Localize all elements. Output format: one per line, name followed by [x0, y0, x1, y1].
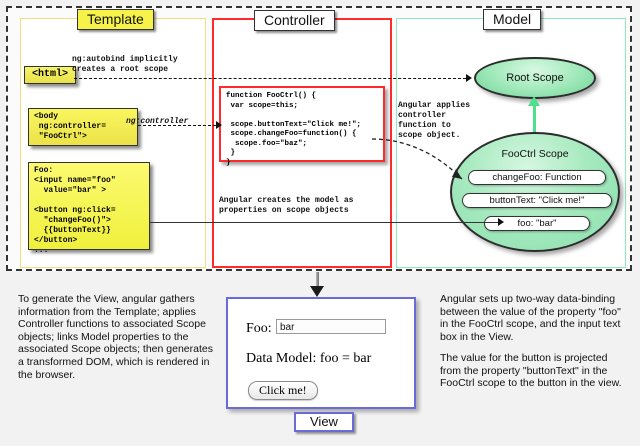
description-right-buttontext: The value for the button is projected fr… — [440, 352, 630, 390]
scope-property-buttontext: buttonText: "Click me!" — [462, 193, 612, 208]
annotation-angular-creates-model: Angular creates the model as properties … — [219, 196, 353, 216]
connector-autobind-arrowhead — [466, 74, 472, 82]
view-panel: Foo: bar Data Model: foo = bar Click me! — [226, 297, 416, 409]
panel-title-template: Template — [77, 9, 154, 30]
template-html-tag-box: <html> — [24, 66, 76, 84]
connector-creates-model-line — [150, 222, 498, 223]
view-panel-title: View — [294, 412, 354, 432]
scope-link-arrow-head — [528, 96, 540, 106]
panel-title-model: Model — [483, 9, 541, 30]
template-foo-markup-box: Foo: <input name="foo" value="bar" > <bu… — [28, 162, 150, 250]
fooctrl-scope-ellipse: FooCtrl Scope changeFoo: Function button… — [450, 132, 620, 252]
view-foo-label: Foo: — [246, 321, 272, 337]
description-left: To generate the View, angular gathers in… — [18, 293, 214, 381]
view-data-model-text: Data Model: foo = bar — [246, 351, 371, 367]
description-right-databinding: Angular sets up two-way data-binding bet… — [440, 293, 630, 343]
view-click-me-button[interactable]: Click me! — [248, 381, 318, 400]
annotation-ng-autobind: ng:autobind implicitly creates a root sc… — [72, 55, 178, 75]
connector-ngcontroller-line — [138, 125, 216, 126]
connector-ngcontroller-arrowhead — [216, 121, 222, 129]
root-scope-label: Root Scope — [506, 72, 563, 84]
panel-title-controller: Controller — [254, 10, 335, 31]
fooctrl-scope-label: FooCtrl Scope — [452, 148, 618, 160]
view-connector-arrowhead — [310, 286, 324, 297]
template-body-tag-box: <body ng:controller= "FooCtrl"> — [28, 108, 138, 146]
scope-link-arrow-stem — [533, 104, 536, 134]
view-foo-input[interactable]: bar — [276, 319, 386, 334]
connector-creates-model-arrowhead — [498, 218, 504, 226]
connector-applies-curve — [370, 135, 470, 185]
controller-code-box: function FooCtrl() { var scope=this; sco… — [219, 86, 385, 162]
connector-autobind-line — [74, 78, 466, 79]
scope-property-changefoo: changeFoo: Function — [468, 170, 606, 185]
root-scope-ellipse: Root Scope — [474, 57, 596, 99]
